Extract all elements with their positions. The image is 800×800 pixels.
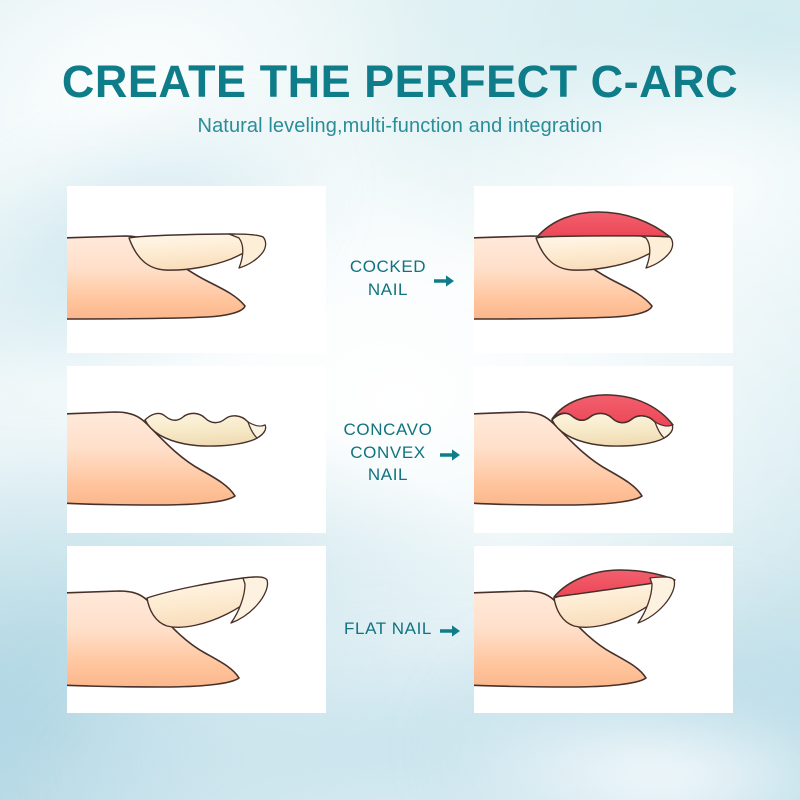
label-cocked-nail: COCKED NAIL bbox=[330, 248, 474, 310]
header: CREATE THE PERFECT C-ARC Natural levelin… bbox=[0, 58, 800, 138]
illustration-cocked-nail-before bbox=[67, 186, 326, 353]
illustration-concavo-convex-nail-after bbox=[474, 366, 733, 533]
illustration-flat-nail-before bbox=[67, 546, 326, 713]
label-line-1: CONCAVO bbox=[344, 420, 433, 439]
arrow-right-icon bbox=[440, 446, 460, 460]
label-line-1: COCKED bbox=[350, 257, 426, 276]
illustration-flat-nail-after bbox=[474, 546, 733, 713]
label-line-3: NAIL bbox=[368, 465, 408, 484]
arrow-right-icon bbox=[440, 622, 460, 636]
label-line-2: CONVEX bbox=[350, 443, 425, 462]
panel-after-flat-nail bbox=[474, 546, 733, 713]
label-flat-nail-text: FLAT NAIL bbox=[344, 618, 432, 641]
label-concavo-convex-nail: CONCAVO CONVEX NAIL bbox=[330, 410, 474, 496]
illustration-concavo-convex-nail-before bbox=[67, 366, 326, 533]
panel-before-flat-nail bbox=[67, 546, 326, 713]
panel-after-cocked-nail bbox=[474, 186, 733, 353]
panel-before-cocked-nail bbox=[67, 186, 326, 353]
illustration-cocked-nail-after bbox=[474, 186, 733, 353]
label-cocked-nail-text: COCKED NAIL bbox=[350, 256, 426, 302]
panel-after-concavo-convex-nail bbox=[474, 366, 733, 533]
panel-before-concavo-convex-nail bbox=[67, 366, 326, 533]
page-title: CREATE THE PERFECT C-ARC bbox=[0, 58, 800, 105]
label-flat-nail: FLAT NAIL bbox=[330, 608, 474, 650]
arrow-right-icon bbox=[434, 272, 454, 286]
label-line-2: NAIL bbox=[368, 280, 408, 299]
label-concavo-convex-nail-text: CONCAVO CONVEX NAIL bbox=[344, 419, 433, 488]
page-subtitle: Natural leveling,multi-function and inte… bbox=[0, 115, 800, 138]
poster-canvas: CREATE THE PERFECT C-ARC Natural levelin… bbox=[0, 0, 800, 800]
